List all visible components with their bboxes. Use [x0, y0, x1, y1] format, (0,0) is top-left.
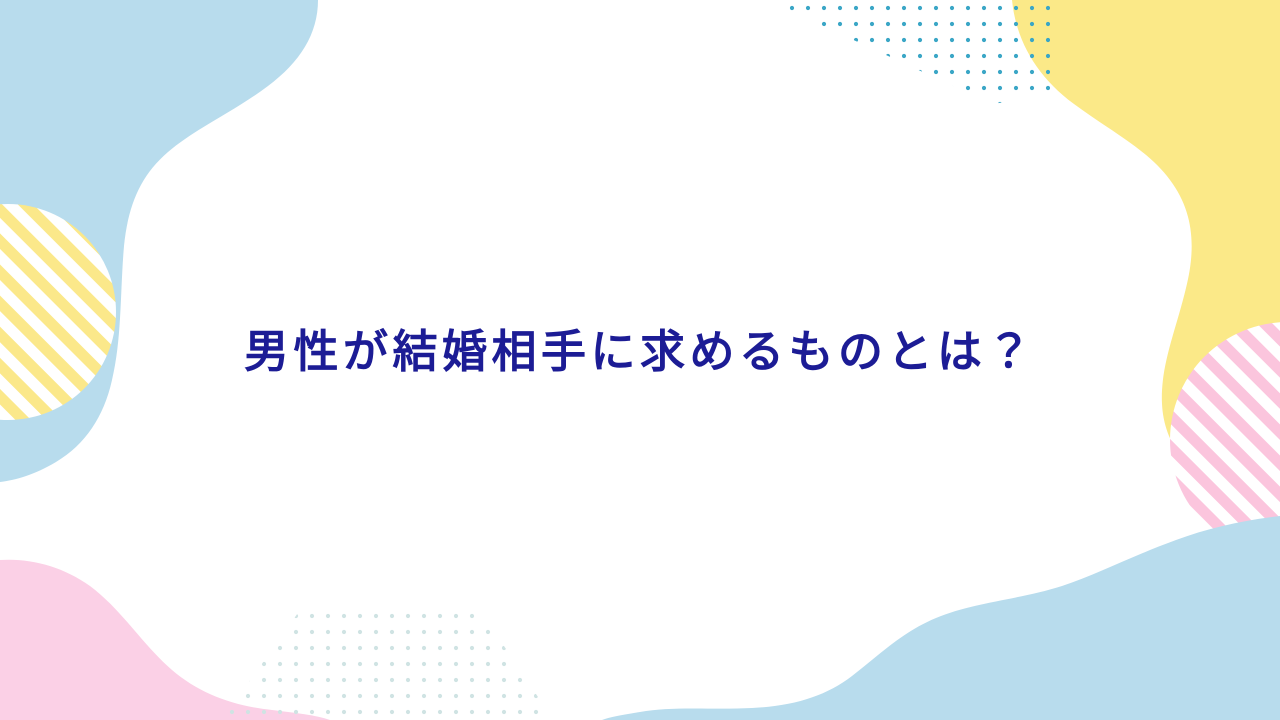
- page-title: 男性が結婚相手に求めるものとは？: [244, 324, 1036, 380]
- title-container: 男性が結婚相手に求めるものとは？: [0, 0, 1280, 720]
- slide-canvas: 男性が結婚相手に求めるものとは？: [0, 0, 1280, 720]
